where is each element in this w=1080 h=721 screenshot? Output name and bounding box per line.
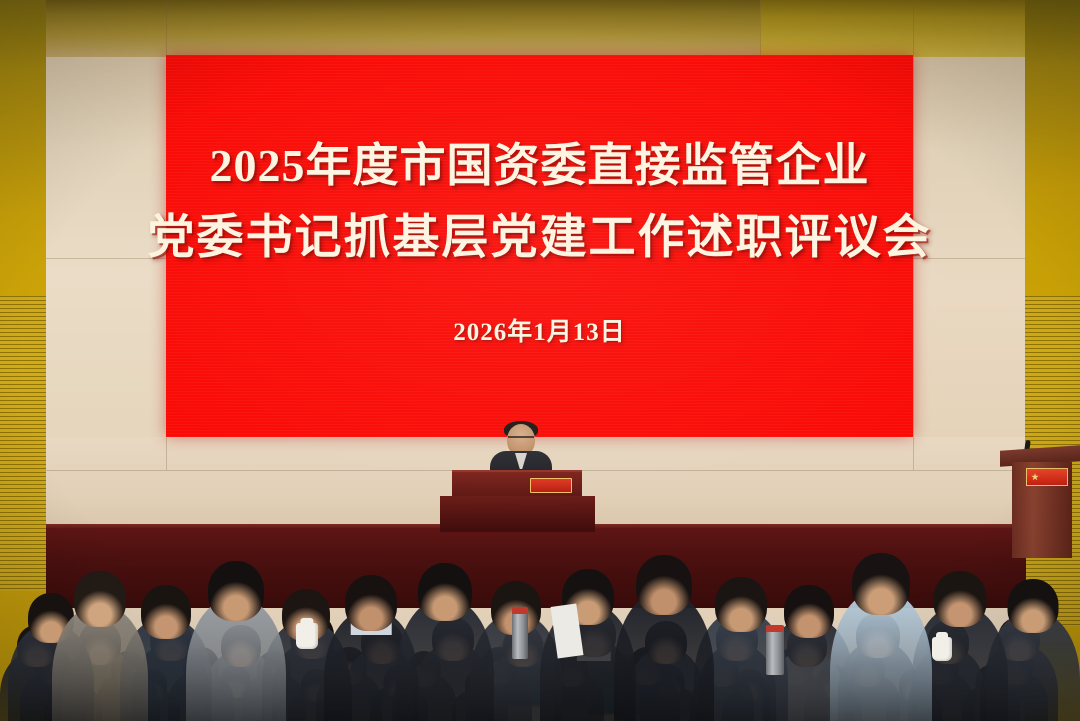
- audience-member-head: [934, 571, 987, 627]
- teacup: [932, 637, 952, 661]
- teacup: [296, 623, 318, 649]
- thermos-flask: [512, 613, 528, 659]
- audience-member-head: [636, 555, 692, 615]
- audience-member-head: [345, 575, 397, 631]
- audience-member-head: [784, 585, 834, 638]
- led-banner-screen: 2025年度市国资委直接监管企业 党委书记抓基层党建工作述职评议会 2026年1…: [166, 55, 913, 437]
- ceiling-seam: [760, 0, 761, 57]
- audience-member: [396, 563, 494, 721]
- audience-member: [614, 555, 714, 721]
- audience-member-head: [208, 561, 264, 621]
- banner-date: 2026年1月13日: [453, 312, 626, 348]
- audience-member-head: [852, 553, 910, 615]
- conference-photo: 2025年度市国资委直接监管企业 党委书记抓基层党建工作述职评议会 2026年1…: [0, 0, 1080, 721]
- audience-area: [0, 455, 1080, 721]
- audience-member-head: [141, 585, 191, 639]
- audience-member-head: [74, 571, 126, 627]
- audience-member: [186, 561, 286, 721]
- banner-title-line-2: 党委书记抓基层党建工作述职评议会: [148, 215, 932, 262]
- thermos-flask: [766, 631, 784, 675]
- audience-member-head: [715, 577, 767, 632]
- audience-member: [830, 553, 932, 721]
- audience-member-head: [1008, 579, 1059, 633]
- audience-member: [52, 571, 148, 721]
- banner-title-line-1: 2025年度市国资委直接监管企业: [210, 143, 870, 189]
- audience-member-head: [418, 563, 472, 621]
- glasses-icon: [508, 436, 534, 444]
